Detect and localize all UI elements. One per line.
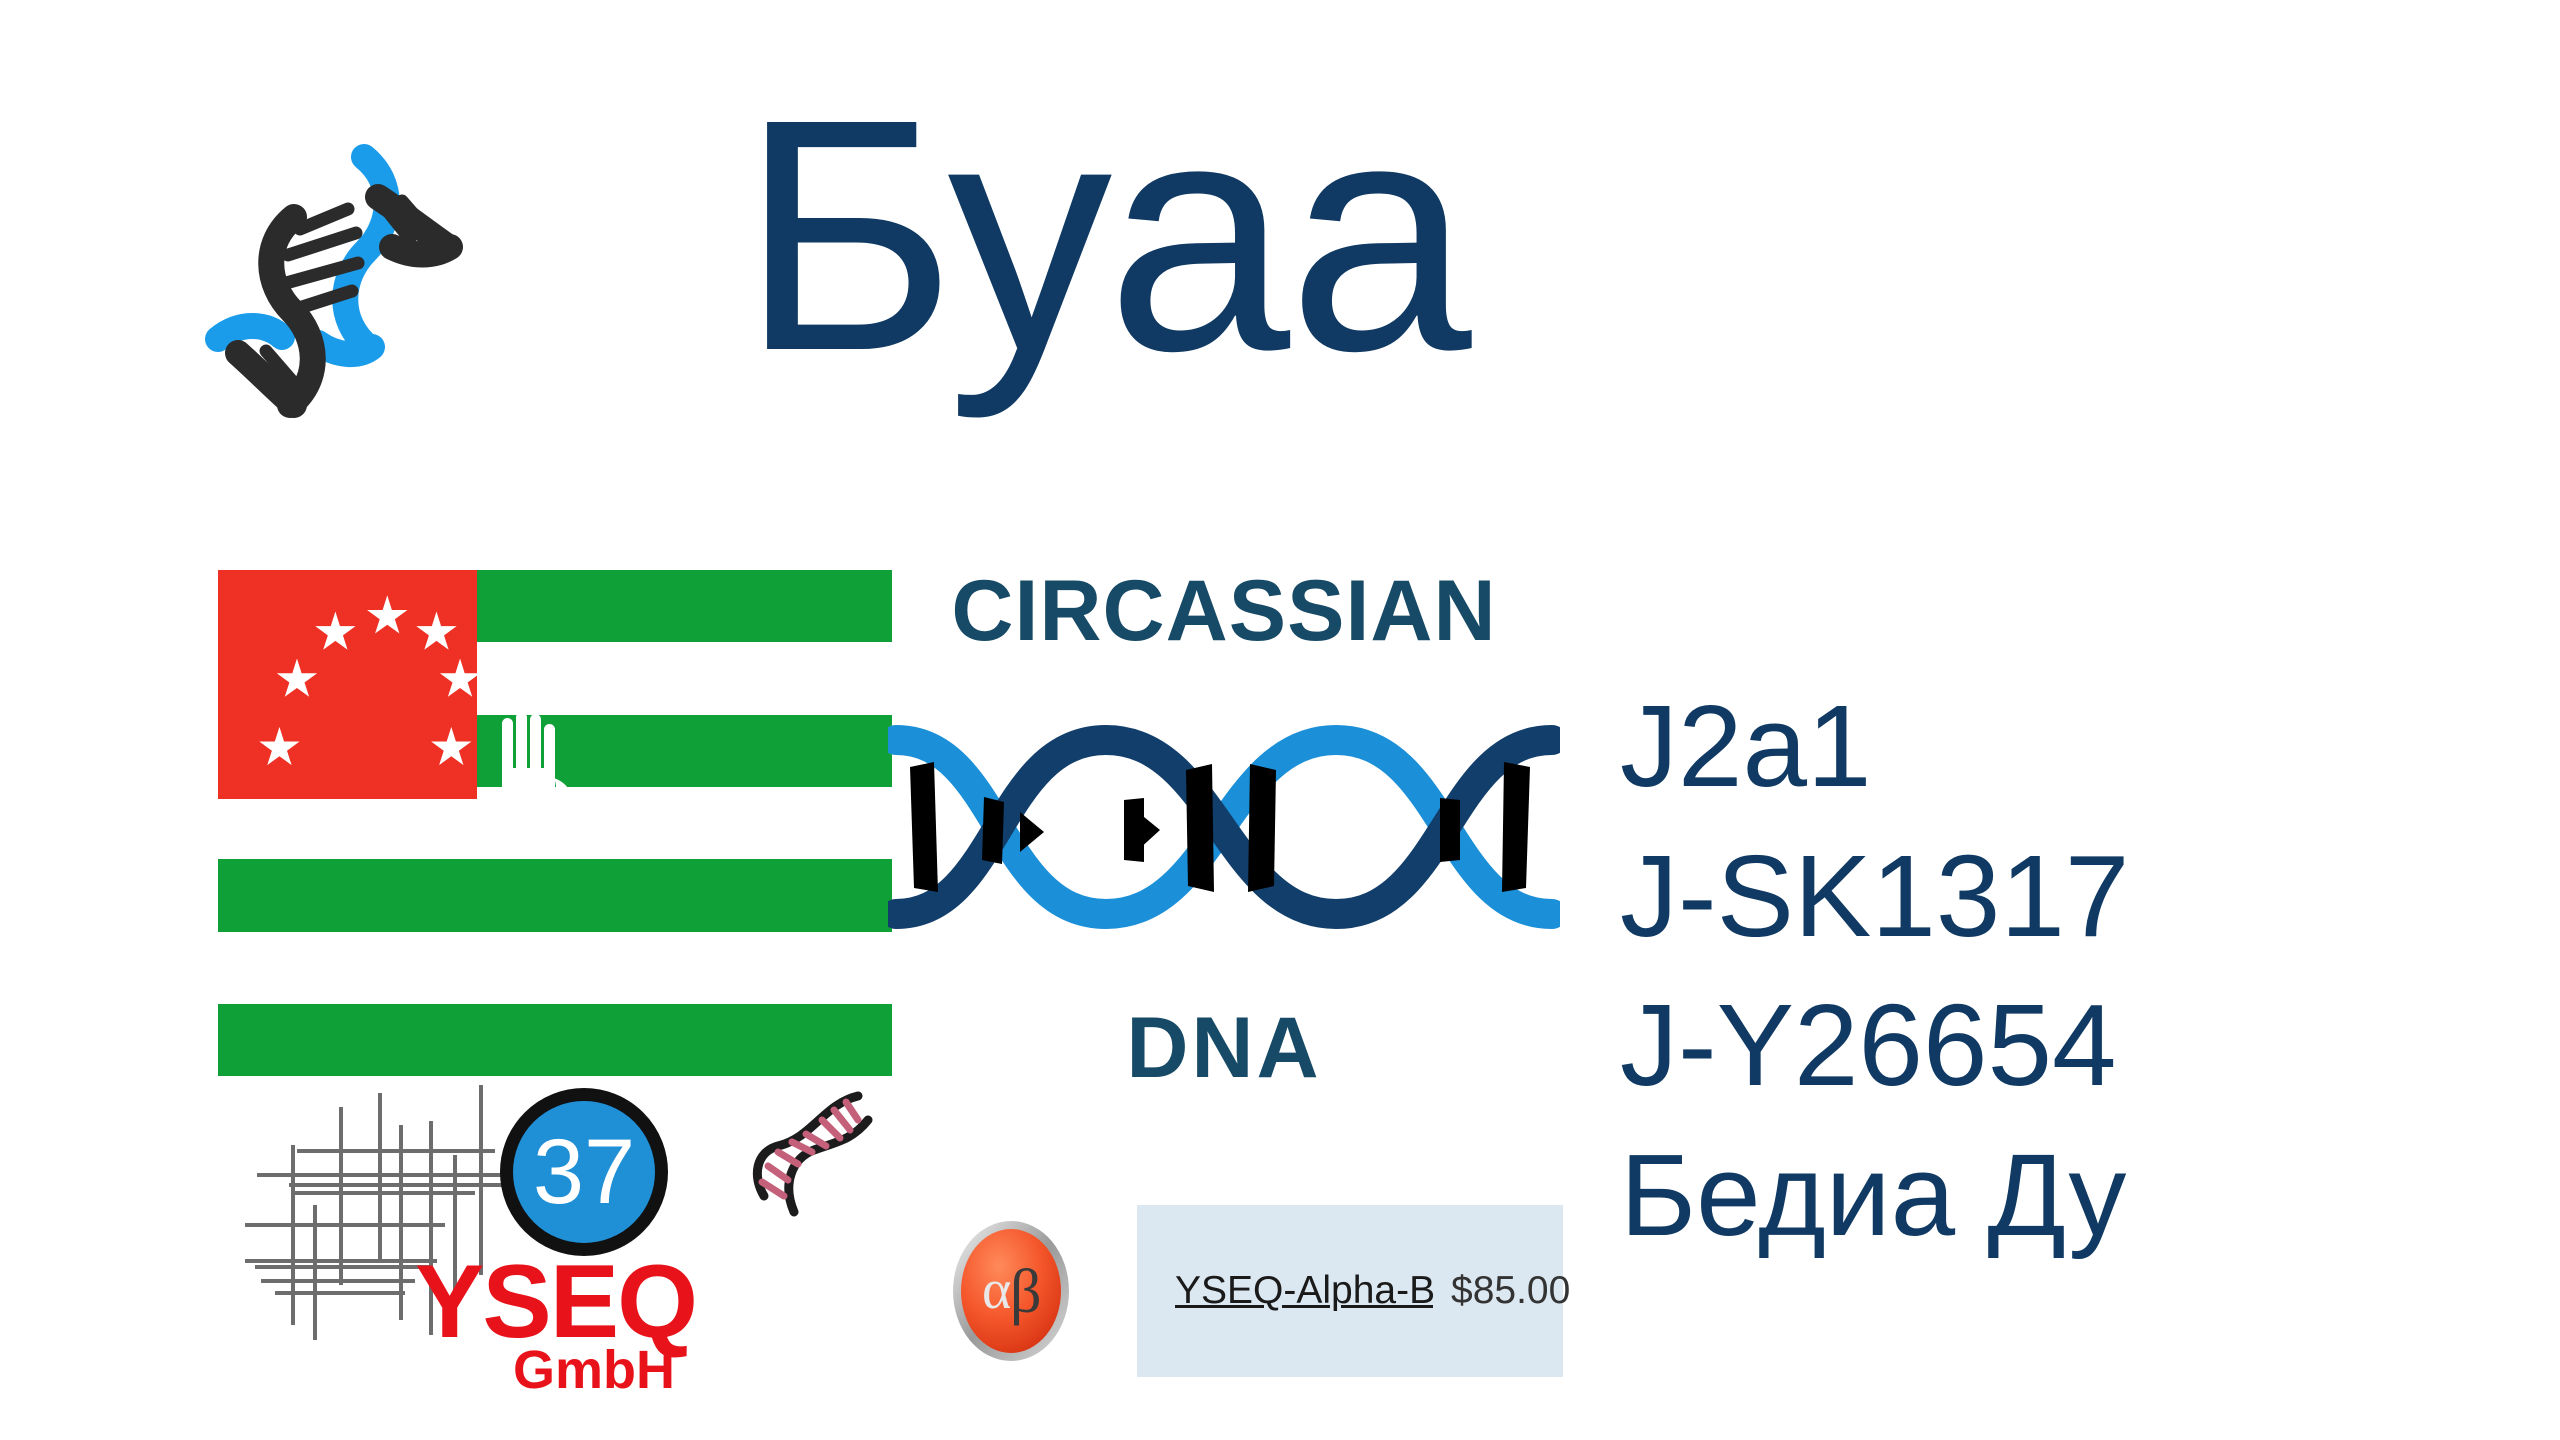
dna-helix-small-icon [748, 1080, 883, 1235]
flag-stripe-green-3 [218, 859, 892, 931]
haplogroup-line-3: J-Y26654 [1620, 971, 2129, 1121]
dna-helix-icon [196, 143, 472, 421]
yseq-wordmark: YSEQ [415, 1250, 696, 1354]
product-price: $85.00 [1451, 1269, 1570, 1313]
product-text-row: YSEQ-Alpha-Beta $85.00 [1137, 1269, 1570, 1313]
circassian-dna-logo: CIRCASSIAN [888, 562, 1560, 1092]
yseq-gmbh-label: GmbH [513, 1343, 675, 1397]
product-price-panel[interactable]: α β YSEQ-Alpha-Beta $85.00 [885, 1205, 1563, 1377]
haplogroup-line-2: J-SK1317 [1620, 822, 2129, 972]
dna-double-helix-graphic [888, 702, 1560, 952]
abkhazia-flag [218, 570, 892, 1076]
yseq-badge: 37 [500, 1088, 668, 1256]
open-hand-icon [488, 712, 574, 862]
circassian-wordmark: CIRCASSIAN [888, 562, 1560, 661]
flag-stripe-green-4 [218, 1004, 892, 1076]
haplogroup-list: J2a1 J-SK1317 J-Y26654 Бедиа Ду [1620, 672, 2129, 1271]
product-thumbnail: α β [885, 1205, 1137, 1377]
haplogroup-line-4: Бедиа Ду [1620, 1121, 2129, 1271]
yseq-badge-number: 37 [533, 1126, 635, 1218]
flag-canton [218, 570, 477, 799]
yseq-logo: 37 YSEQ GmbH [245, 1085, 720, 1410]
svg-text:β: β [1010, 1258, 1042, 1326]
svg-text:α: α [982, 1259, 1011, 1321]
page-title: Буаа [740, 70, 1470, 400]
product-name-link[interactable]: YSEQ-Alpha-Beta [1175, 1269, 1433, 1313]
haplogroup-line-1: J2a1 [1620, 672, 2129, 822]
slide-canvas: Буаа [0, 0, 2560, 1440]
dna-wordmark: DNA [888, 999, 1560, 1098]
